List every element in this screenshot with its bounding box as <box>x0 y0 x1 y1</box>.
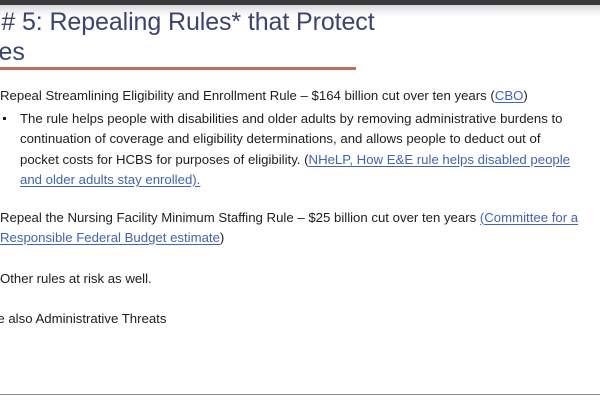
body-paragraph-repeal-staffing-rule: Repeal the Nursing Facility Minimum Staf… <box>0 208 590 249</box>
body-text-repeal-staffing-rule: Repeal the Nursing Facility Minimum Staf… <box>0 210 480 225</box>
slide-canvas: hreat # 5: Repealing Rules* that Protect… <box>0 0 600 400</box>
slide-title-line-1: hreat # 5: Repealing Rules* that Protect <box>0 7 578 37</box>
paren-close-crfb: ) <box>220 230 224 245</box>
body-paragraph-see-also: ee also Administrative Threats <box>0 309 590 330</box>
paren-close-cbo: ) <box>523 88 527 103</box>
bottom-divider-rule <box>0 394 600 395</box>
spacer-after-staffing <box>0 249 590 269</box>
body-text-repeal-ee-rule: Repeal Streamlining Eligibility and Enro… <box>0 88 490 103</box>
body-paragraph-repeal-ee-rule: Repeal Streamlining Eligibility and Enro… <box>0 86 590 107</box>
title-underline-rule <box>0 67 356 70</box>
bullet-marker-icon <box>3 117 6 120</box>
bullet-text-wrapper: The rule helps people with disabilities … <box>20 109 590 191</box>
slide-body: Repeal Streamlining Eligibility and Enro… <box>0 86 590 330</box>
spacer-after-other-rules <box>0 289 590 309</box>
body-paragraph-other-rules: Other rules at risk as well. <box>0 269 590 290</box>
link-cbo[interactable]: CBO <box>495 88 524 103</box>
slide-title: hreat # 5: Repealing Rules* that Protect… <box>0 7 578 67</box>
bullet-item-ee-rule-detail: The rule helps people with disabilities … <box>0 109 590 191</box>
spacer-after-bullet <box>0 191 590 208</box>
slide-title-line-2: nrollees <box>0 37 578 67</box>
